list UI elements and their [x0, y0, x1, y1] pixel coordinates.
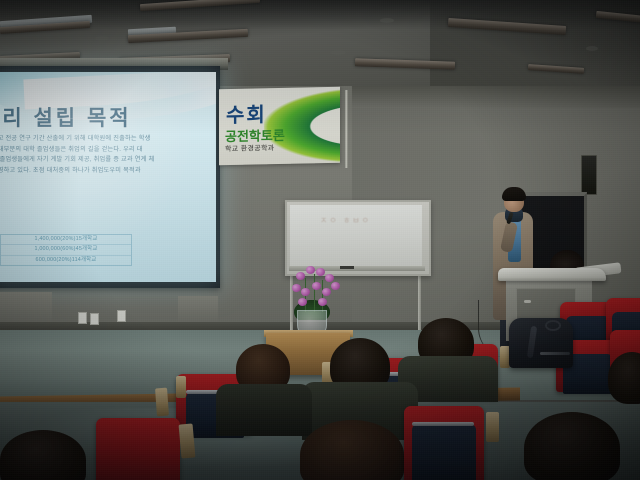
ceiling-vent-icon [330, 50, 346, 55]
flower-stem [322, 280, 323, 312]
whiteboard-writing: ㅈㅇ ㅎㅂㅇ [320, 215, 371, 226]
wall-soffit [352, 86, 640, 108]
whiteboard-marker-icon [340, 266, 354, 269]
banner-department: 학교 환경공학과 [225, 143, 274, 154]
whiteboard: ㅈㅇ ㅎㅂㅇ [285, 200, 431, 276]
wall-panel [0, 292, 52, 324]
orchid-bloom [312, 282, 321, 290]
seat-armrest [179, 423, 196, 458]
audience-shoulders [216, 384, 312, 436]
flower-stem [314, 274, 315, 312]
orchid-bloom [301, 288, 310, 296]
orchid-bloom [325, 274, 334, 282]
power-outlet-icon [117, 310, 126, 322]
audience-head [524, 412, 620, 480]
seat-armrest [486, 412, 499, 442]
backpack-loop-icon [545, 320, 561, 331]
orchid-bloom [306, 266, 315, 274]
wall-speaker-icon [581, 155, 597, 195]
wall-panel [178, 296, 218, 324]
ceiling-vent-icon [380, 18, 394, 23]
wall-banner: 수회 공전학토론 학교 환경공학과 [219, 87, 340, 166]
lectern-top [498, 268, 606, 281]
whiteboard-surface: ㅈㅇ ㅎㅂㅇ [290, 205, 422, 267]
power-outlet-icon [78, 312, 87, 324]
presenter-hair [502, 187, 526, 201]
orchid-bloom [292, 284, 301, 292]
seat-back [96, 418, 180, 480]
ceiling-vent-icon [586, 46, 598, 51]
seat-armrest [176, 376, 186, 398]
banner-title: 수회 [226, 98, 267, 128]
orchid-bloom [296, 272, 305, 280]
projection-screen: 아리 설립 목적 업해 고 전공 연구 기간 산출에 기 위해 대학원에 진출하… [0, 72, 216, 282]
seat-cushion [412, 424, 476, 480]
seat-trim [412, 422, 474, 426]
photo-scene: 아리 설립 목적 업해 고 전공 연구 기간 산출에 기 위해 대학원에 진출하… [0, 0, 640, 480]
orchid-bloom [331, 282, 340, 290]
banner-pole [345, 90, 348, 168]
orchid-bloom [316, 268, 325, 276]
power-outlet-icon [90, 313, 99, 325]
backpack-zipper-icon [540, 352, 570, 355]
orchid-bloom [298, 298, 307, 306]
orchid-bloom [322, 288, 331, 296]
orchid-bloom [318, 298, 327, 306]
ceiling-vent-icon [95, 36, 109, 41]
banner-subtitle: 공전학토론 [225, 125, 285, 145]
audience-head [300, 420, 404, 480]
lectern-knob-icon [524, 300, 531, 303]
screen-glare [0, 72, 216, 282]
seat-armrest [155, 388, 169, 417]
backpack [509, 318, 573, 368]
